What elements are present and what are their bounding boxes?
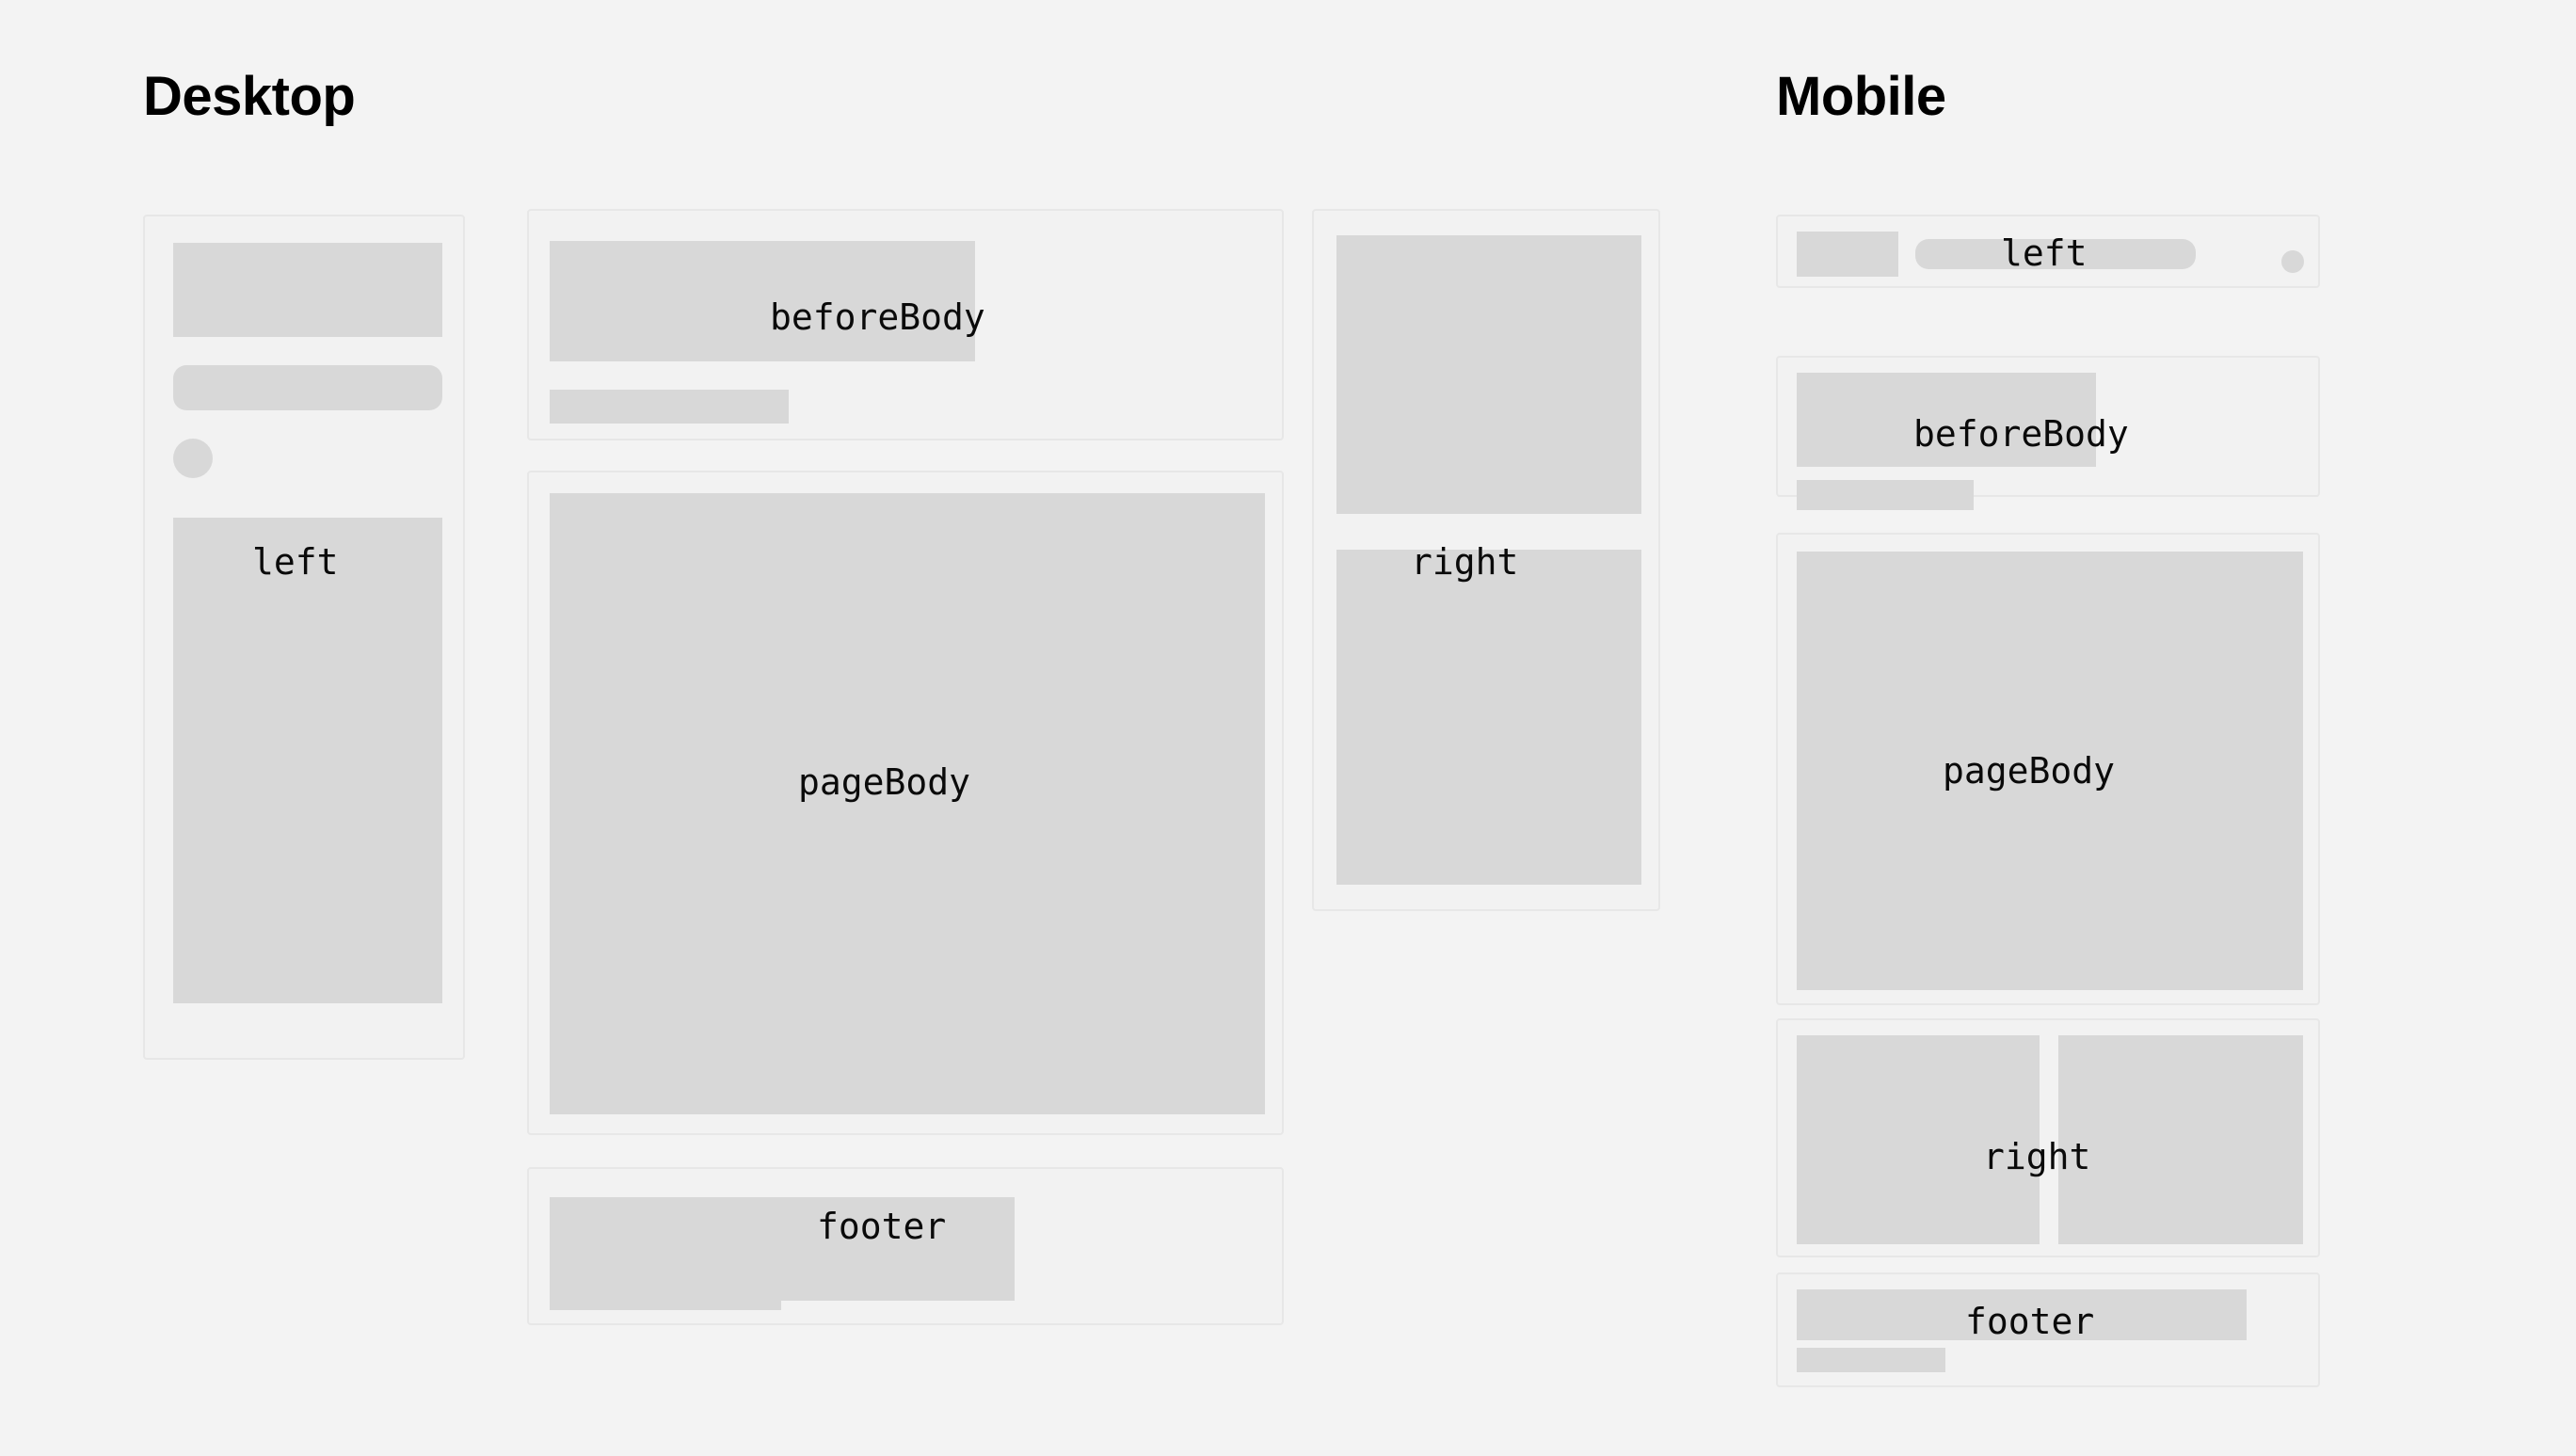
desktop-slot-pagebody[interactable] xyxy=(527,471,1284,1135)
placeholder-block-large xyxy=(1797,373,2096,467)
placeholder-block-full xyxy=(1797,552,2303,990)
placeholder-block-rail xyxy=(173,518,442,1003)
placeholder-bar-small xyxy=(1797,480,1974,510)
placeholder-bar-small xyxy=(550,390,789,424)
mobile-slot-footer[interactable] xyxy=(1776,1272,2320,1387)
placeholder-bar-small xyxy=(550,1276,781,1310)
placeholder-bar-rounded xyxy=(173,365,442,410)
desktop-section-title: Desktop xyxy=(143,70,355,124)
placeholder-block-large xyxy=(550,241,975,361)
mobile-slot-left[interactable] xyxy=(1776,215,2320,288)
wireframe-canvas: { "theme": { "page_background": "#f3f3f3… xyxy=(0,0,2576,1456)
desktop-slot-right[interactable] xyxy=(1312,209,1660,911)
desktop-slot-footer[interactable] xyxy=(527,1167,1284,1325)
mobile-slot-pagebody[interactable] xyxy=(1776,533,2320,1005)
mobile-slot-beforebody[interactable] xyxy=(1776,356,2320,497)
placeholder-block-small xyxy=(1797,232,1898,277)
placeholder-block-lower xyxy=(1336,550,1641,885)
placeholder-block-upper xyxy=(1336,235,1641,514)
mobile-section-title: Mobile xyxy=(1776,70,1946,124)
placeholder-bar-rounded xyxy=(1915,239,2196,269)
placeholder-block-wide xyxy=(1797,1289,2247,1340)
placeholder-block-full xyxy=(550,493,1265,1114)
placeholder-bar-small xyxy=(1797,1348,1945,1372)
placeholder-block-tall xyxy=(173,243,442,337)
desktop-slot-left[interactable] xyxy=(143,215,465,1060)
placeholder-block-column-left xyxy=(1797,1035,2040,1244)
placeholder-circle xyxy=(2281,250,2304,273)
desktop-slot-beforebody[interactable] xyxy=(527,209,1284,440)
placeholder-circle xyxy=(173,439,213,478)
placeholder-block-column-right xyxy=(2058,1035,2303,1244)
mobile-slot-right[interactable] xyxy=(1776,1018,2320,1257)
